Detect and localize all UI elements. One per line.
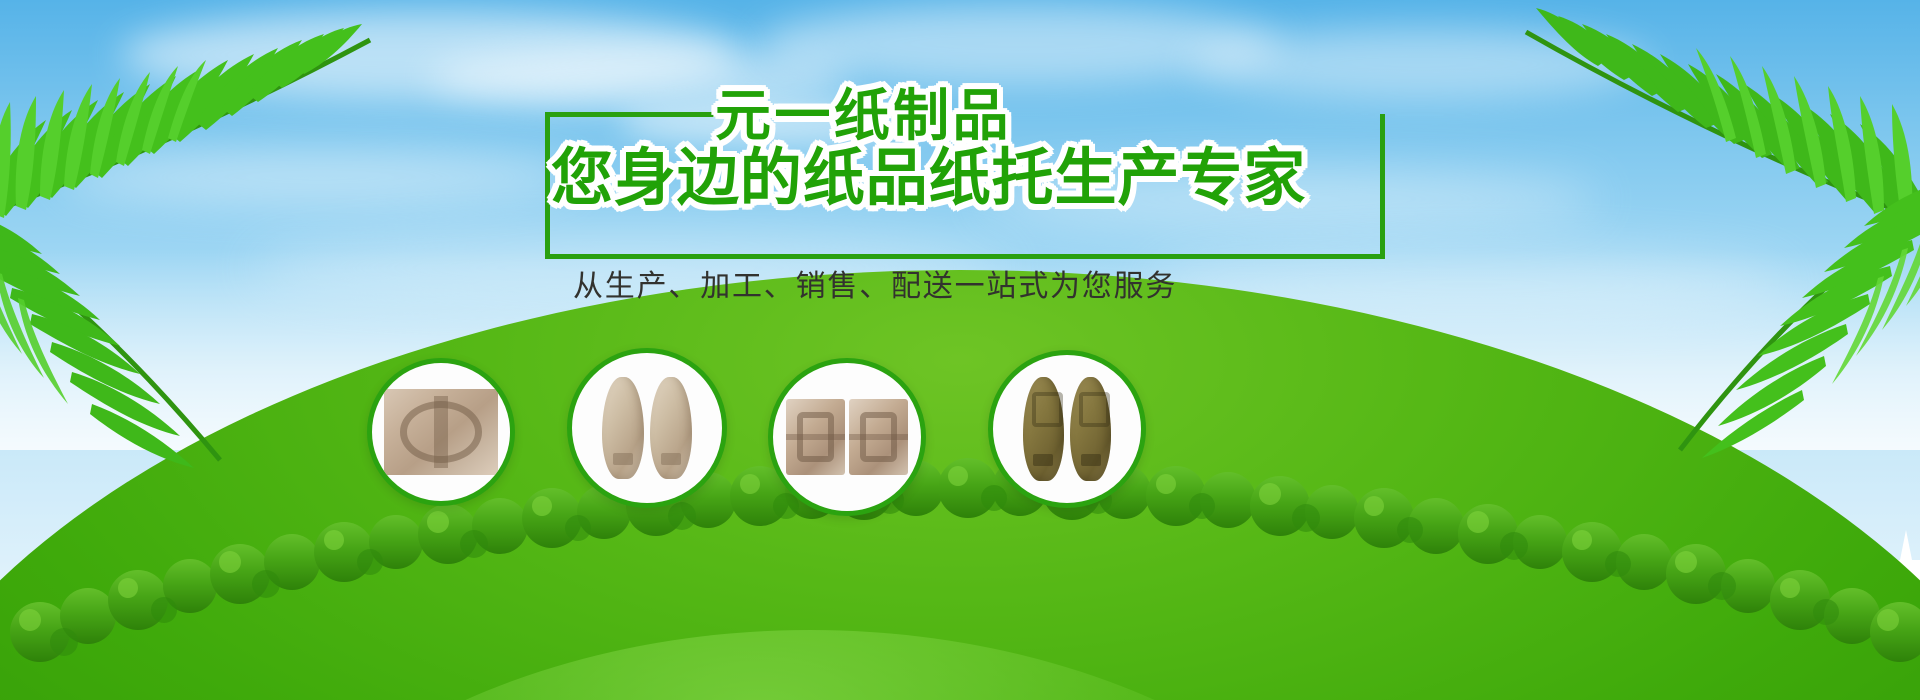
insole-left xyxy=(602,377,644,479)
headline-line-2: 您身边的纸品纸托生产专家 xyxy=(551,144,1306,214)
product-image-pulp-corner-protectors xyxy=(786,399,907,476)
corner-protector-pair-shape xyxy=(786,399,907,476)
corner-protector-right xyxy=(849,399,907,476)
headline-block: 元一纸制品 您身边的纸品纸托生产专家 从生产、加工、销售、配送一站式为您服务 xyxy=(545,88,1385,288)
insole-pair-shape-dark xyxy=(1006,373,1127,485)
headline-line-1: 元一纸制品 xyxy=(715,86,1012,146)
product-circle-pulp-shoe-insoles-dark[interactable] xyxy=(988,350,1146,508)
product-circle-square-pulp-tray[interactable] xyxy=(367,358,515,506)
palm-frond-icon xyxy=(1630,150,1920,460)
corner-protector-left xyxy=(786,399,844,476)
insole-pair-shape xyxy=(586,373,709,484)
insole-right xyxy=(650,377,692,479)
frame-line-left xyxy=(545,112,550,259)
product-image-pulp-shoe-insoles-dark xyxy=(1006,373,1127,485)
palm-frond-icon xyxy=(0,170,270,470)
pulp-tray-shape xyxy=(384,389,497,475)
frame-line-bottom xyxy=(545,254,1385,259)
insole-right-dark xyxy=(1070,377,1111,480)
insole-left-dark xyxy=(1023,377,1064,480)
product-image-square-pulp-tray xyxy=(384,389,497,475)
frame-line-right xyxy=(1380,114,1385,259)
subtitle: 从生产、加工、销售、配送一站式为您服务 xyxy=(573,268,1177,306)
product-image-pulp-shoe-insoles-light xyxy=(586,373,709,484)
promo-banner: 元一纸制品 您身边的纸品纸托生产专家 从生产、加工、销售、配送一站式为您服务 xyxy=(0,0,1920,700)
product-circle-pulp-shoe-insoles-light[interactable] xyxy=(567,348,727,508)
product-circle-pulp-corner-protectors[interactable] xyxy=(768,358,926,516)
